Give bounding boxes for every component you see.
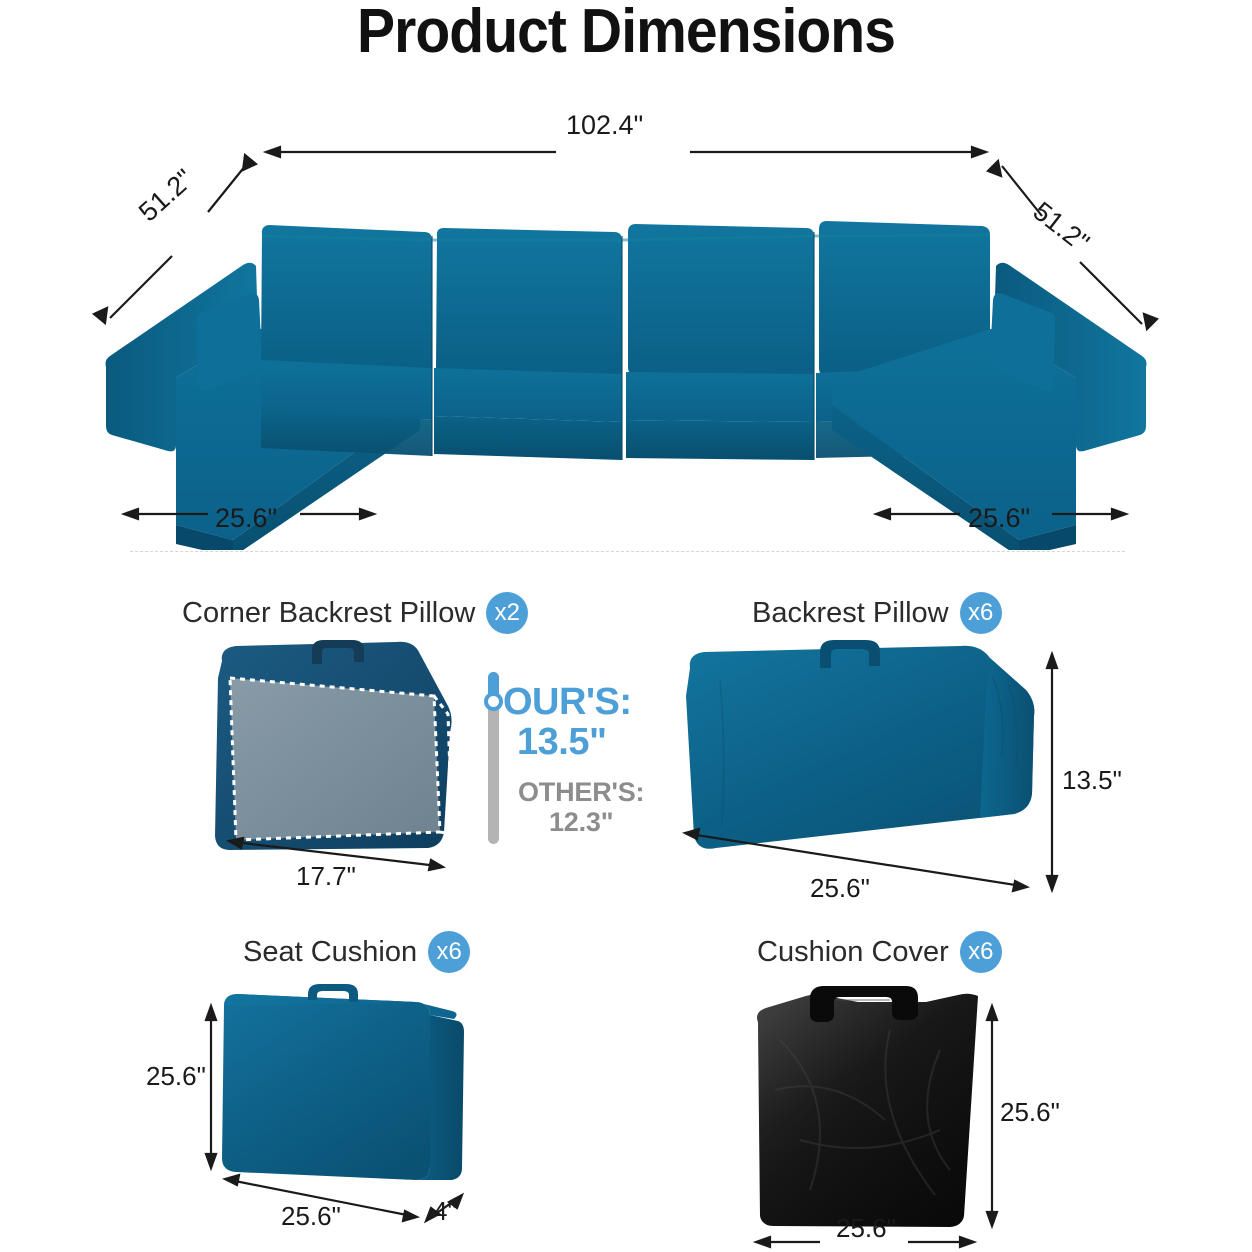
product-dimensions-infographic: Product Dimensions <box>0 0 1252 1252</box>
cushion-cover-width-label: 25.6" <box>836 1213 896 1244</box>
page-title: Product Dimensions <box>50 0 1202 67</box>
seat-cushion-qty-badge: x6 <box>428 931 470 973</box>
sofa-left-seat-width-label: 25.6" <box>215 503 277 534</box>
backrest-pillow-qty-badge: x6 <box>960 592 1002 634</box>
backrest-pillow-body <box>686 646 1034 849</box>
comparison-others-label: OTHER'S: <box>518 777 644 807</box>
backrest-pillow-label: Backrest Pillow <box>752 597 949 630</box>
seat-cushion-label: Seat Cushion <box>243 936 417 969</box>
comparison-others-value: 12.3" <box>518 808 644 838</box>
sofa-right-seat-width-label: 25.6" <box>968 503 1030 534</box>
sofa-width-label: 102.4" <box>566 110 643 141</box>
corner-backrest-pillow-header: Corner Backrest Pillow x2 <box>182 592 528 634</box>
comparison-ours: OUR'S: 13.5" <box>503 683 631 763</box>
corner-backrest-pillow-graphic <box>200 636 500 886</box>
comparison-marker-dot <box>484 692 503 711</box>
cushion-cover-qty-badge: x6 <box>960 931 1002 973</box>
seat-cushion-front-face <box>222 994 430 1180</box>
seat-cushion-width-label: 25.6" <box>281 1201 341 1232</box>
backrest-pillow-height-label: 13.5" <box>1062 765 1122 796</box>
backrest-pillow-width-label: 25.6" <box>810 873 870 904</box>
comparison-others: OTHER'S: 12.3" <box>518 778 644 837</box>
corner-pillow-measure-overlay <box>230 678 440 840</box>
corner-pillow-width-label: 17.7" <box>296 861 356 892</box>
cushion-cover-label: Cushion Cover <box>757 936 949 969</box>
sofa-back-pillows <box>261 221 990 379</box>
sofa-center-seat-front <box>434 416 622 460</box>
seat-cushion-height-label: 25.6" <box>146 1061 206 1092</box>
corner-backrest-pillow-qty-badge: x2 <box>486 592 528 634</box>
cushion-cover-height-label: 25.6" <box>1000 1097 1060 1128</box>
comparison-ours-value: 13.5" <box>503 723 631 763</box>
corner-backrest-pillow-label: Corner Backrest Pillow <box>182 597 475 630</box>
cushion-cover-header: Cushion Cover x6 <box>757 931 1002 973</box>
backrest-pillow-graphic <box>660 636 1080 916</box>
backrest-pillow-header: Backrest Pillow x6 <box>752 592 1002 634</box>
seat-cushion-depth-label: 4" <box>433 1196 457 1227</box>
section-divider <box>130 551 1125 552</box>
comparison-ours-label: OUR'S: <box>503 681 631 723</box>
seat-cushion-header: Seat Cushion x6 <box>243 931 470 973</box>
